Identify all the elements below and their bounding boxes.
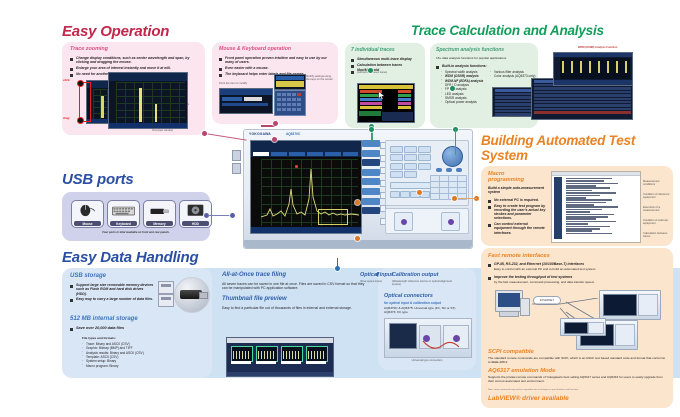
title-emulation: AQ6317 emulation Mode: [488, 368, 555, 374]
callout-dot-trace-zooming: [202, 131, 207, 136]
label-file-types-head: File types and formats:: [82, 336, 116, 340]
label-drag: drag: [63, 116, 70, 120]
screenshot-thumbnail-preview: [226, 337, 334, 377]
bullet-item: Calculation between traces: [351, 63, 421, 67]
callout-dot-display: [272, 137, 277, 142]
caption-point-item: Point the item to modify: [219, 82, 247, 85]
soft-key[interactable]: [362, 150, 380, 157]
heading-easy-operation: Easy Operation: [62, 24, 169, 40]
list-file-types: Trace: Binary and ASCII (CSV) Graphic: B…: [82, 342, 202, 368]
usb-memory-icon: [149, 204, 170, 218]
tile-label: Mouse: [72, 222, 103, 226]
title-optical-input: Optical input: [360, 273, 393, 279]
annotation-macro: Measurement conditions: [643, 180, 671, 186]
leader-line-macro: [455, 198, 477, 199]
panel-button[interactable]: [390, 171, 403, 178]
soft-key[interactable]: [362, 169, 380, 176]
panel-button[interactable]: [404, 163, 417, 170]
card-title-seven-traces: 7 individual traces: [351, 48, 395, 54]
thumbnail-item[interactable]: [306, 346, 328, 362]
mouse-icon: [79, 204, 96, 217]
overview-subwindow: [318, 209, 348, 225]
block-trace-filing: All-at-Once trace filing All seven trace…: [222, 272, 372, 310]
rotary-knob[interactable]: [442, 146, 463, 167]
list-analysis-left: Spectral width analysis WDM (OSNR) analy…: [441, 70, 489, 105]
usb-socket-upper: [158, 281, 174, 294]
body-scpi: The standard remote commands are compati…: [488, 357, 668, 364]
screenshot-macro-code: [551, 171, 641, 243]
bullets-macro: No external PC is required. Easy to crea…: [488, 198, 546, 236]
bullets-usb-storage: Support large size removable memory devi…: [70, 283, 154, 303]
callout-dot-orange-a: [355, 200, 360, 205]
annotation-macro: Execution of a measurement: [643, 206, 671, 212]
caption-optical-connectors: Universal type connection: [378, 359, 476, 362]
panel-button[interactable]: [404, 146, 417, 153]
instrument-model: AQ6370C: [286, 132, 300, 136]
optical-input-port[interactable]: [394, 212, 413, 231]
title-fast-remote: Fast remote interfaces: [488, 253, 550, 259]
bezel-key-column[interactable]: [380, 142, 384, 232]
panel-button[interactable]: [390, 191, 400, 198]
optical-spectrum-analyzer: YOKOGAWA AQ6370C: [243, 129, 473, 249]
title-trace-filing: All-at-Once trace filing: [222, 272, 372, 279]
soft-key[interactable]: [362, 159, 380, 166]
device-illustration-small: [560, 318, 606, 336]
nav-button[interactable]: [446, 168, 452, 172]
card-title-internal-storage: 512 MB internal storage: [70, 316, 138, 323]
callout-dot-green-a: [368, 68, 373, 73]
card-title-usb-storage: USB storage: [70, 273, 106, 280]
bullet-item: Front panel operation proven intuitive a…: [219, 56, 331, 65]
keyboard-icon: [112, 206, 135, 216]
panel-button[interactable]: [390, 154, 403, 161]
bullet-head-builtin: Built-in analysis functions:: [436, 64, 534, 70]
bullet-item: Can control external equipment through t…: [488, 222, 546, 235]
note-optical-input: (Free space input): [360, 280, 382, 283]
card-macro-programming: Macro programming Build a simple auto-me…: [481, 166, 673, 246]
bullet-item: Easy to create test program by recording…: [488, 204, 546, 221]
caption-wdm-analysis: WDM (OSNR) Analysis Function: [578, 46, 617, 49]
leader-line: [205, 133, 247, 141]
pc-illustration: [495, 290, 529, 318]
callout-dot-macro-src: [452, 196, 457, 201]
list-analysis-right: Various filter analysis Color analysis (…: [490, 70, 536, 79]
soft-key[interactable]: [362, 178, 380, 185]
screenshot-trace-list: [357, 83, 415, 123]
title-scpi: SCPI compatible: [488, 349, 534, 355]
bullet-item: GP-IB, RS-232, and Ethernet (10/100Base-…: [488, 262, 668, 266]
bullet-item: Change display conditions, such as cente…: [70, 56, 198, 65]
optical-port-panel: [385, 208, 469, 234]
panel-button[interactable]: [418, 146, 431, 153]
hard-disk-icon: [187, 204, 204, 218]
drag-handle-icon: [77, 117, 84, 124]
annotation-macro: Calculation between traces: [643, 232, 671, 238]
thumbnail-item[interactable]: [256, 346, 278, 362]
title-macro-programming: Macro programming: [488, 171, 538, 183]
screenshot-wdm-waveform: [553, 52, 633, 86]
card-mouse-keyboard: Mouse & Keyboard operation Front panel o…: [212, 42, 338, 124]
bullet-item: Built-in analysis functions:: [436, 64, 534, 68]
screenshot-parameter-panel: [219, 88, 273, 114]
list-item: Macro program: Binary: [82, 364, 202, 368]
soft-key-column[interactable]: [362, 140, 380, 232]
callout-dot-traces-2: [369, 127, 374, 132]
photo-flash-drive: [174, 277, 210, 313]
body-thumbnail-preview: Easy to find a particular file out of th…: [222, 306, 370, 310]
bullet-item: No external PC is required.: [488, 198, 546, 202]
body-remote-2: by the fast measurement, command process…: [494, 281, 670, 285]
soft-key[interactable]: [362, 198, 380, 205]
tile-label: HDD: [180, 222, 211, 226]
heading-building-automated: Building Automated Test System: [481, 133, 680, 163]
click-handle-icon: [77, 80, 84, 87]
list-item: Optical power analysis: [441, 100, 489, 104]
bullets-internal-storage: Save over 20,000 data files: [70, 326, 200, 332]
subtitle-optical-connectors: for optical input & calibration output: [384, 301, 441, 305]
label-click: click: [63, 78, 70, 82]
screenshot-value-readout: [274, 74, 306, 90]
instrument-display[interactable]: [250, 140, 362, 234]
cursor-icon: [378, 87, 385, 96]
lead-spectrum-analysis: 15+ data analysis functions for popular …: [436, 57, 506, 61]
bullet-item: Easy way to carry a large number of data…: [70, 297, 154, 301]
screenshot-result-table: [492, 87, 536, 117]
leader-line-usb: [208, 215, 232, 216]
tile-label: Memory: [144, 222, 175, 226]
thumbnail-item[interactable]: [281, 346, 303, 362]
callout-dot-mouse-keyboard: [273, 121, 278, 126]
lead-macro-programming: Build a simple auto-measurement system: [488, 186, 544, 195]
footnote-usb-ports: Four ports in total available on front a…: [62, 231, 210, 234]
connector-line: AQ6373: FC type: [384, 311, 408, 315]
device-illustration-top: [599, 290, 661, 320]
body-trace-filing: All seven traces can be saved in one fil…: [222, 282, 370, 291]
bullet-item: Enlarge your area of interest instantly …: [70, 66, 198, 70]
bullet-item: Support large size removable memory devi…: [70, 283, 154, 296]
card-spectrum-analysis: Spectrum analysis functions 15+ data ana…: [430, 43, 538, 128]
note-emulation: Note: some commands may not be compatibl…: [488, 389, 668, 391]
tile-mouse: Mouse: [71, 200, 104, 228]
thumbnail-item[interactable]: [231, 346, 253, 362]
card-seven-traces: 7 individual traces Simultaneous multi-t…: [345, 43, 425, 128]
title-optical-connectors: Optical connectors: [384, 294, 433, 300]
list-item: Color analysis (AQ6373 only): [490, 74, 536, 78]
leader-line: [455, 129, 456, 155]
leader-line: [337, 258, 338, 268]
heading-trace-calculation: Trace Calculation and Analysis: [411, 24, 604, 38]
panel-button-wide[interactable]: [390, 182, 431, 189]
title-calibration-output: Calibration output: [392, 273, 438, 279]
card-title-trace-zooming: Trace zooming: [70, 47, 108, 53]
note-calibration-output: (Wavelength reference source or optical …: [392, 280, 452, 286]
bullet-item: Even easier with a mouse.: [219, 66, 331, 70]
panel-button[interactable]: [404, 171, 417, 178]
usb-socket-lower: [158, 294, 174, 307]
callout-dot-green-b: [450, 86, 455, 91]
title-thumbnail-preview: Thumbnail file preview: [222, 296, 372, 303]
panel-button[interactable]: [418, 163, 431, 170]
bullet-item: Save over 20,000 data files: [70, 326, 200, 331]
screenshot-enlarged-waveform: [108, 72, 188, 129]
panel-button[interactable]: [404, 154, 417, 161]
panel-button[interactable]: [400, 191, 410, 198]
onscreen-keypad[interactable]: [274, 90, 306, 116]
panel-button[interactable]: [390, 146, 403, 153]
tile-keyboard: Keyboard: [107, 200, 140, 228]
heading-easy-data-handling: Easy Data Handling: [62, 250, 198, 266]
instrument-base: [244, 240, 472, 248]
card-title-mouse-keyboard: Mouse & Keyboard operation: [219, 47, 291, 53]
bullet-item: Improve the testing throughput of test s…: [488, 275, 668, 279]
heading-usb-ports: USB ports: [62, 172, 134, 188]
nav-button[interactable]: [436, 168, 442, 172]
callout-dot-usb-port: [230, 213, 235, 218]
annotation-macro: Condition of external equipment: [643, 219, 671, 225]
callout-dot-orange-c: [417, 190, 422, 195]
heading-text: Building Automated Test System: [481, 133, 635, 163]
instrument-brand: YOKOGAWA: [249, 132, 271, 136]
photo-optical-connectors: [384, 318, 472, 358]
calibration-output-port[interactable]: [441, 212, 460, 231]
caption-overview-window: Overview window: [152, 129, 192, 132]
card-usb-ports: Mouse Keyboard Memory HDD: [62, 192, 210, 241]
title-labview: LabVIEW® driver available: [488, 395, 569, 402]
brochure-page: Easy Operation Trace zooming Change disp…: [0, 0, 680, 417]
caption-modify-settings: Modify settings using the keys on the sc…: [306, 75, 334, 81]
callout-dot-orange-b: [355, 236, 360, 241]
peak-marker: [295, 165, 298, 168]
body-remote: Easy to control with an external PC and …: [494, 268, 670, 272]
panel-button[interactable]: [390, 163, 403, 170]
soft-key[interactable]: [362, 207, 380, 214]
tile-memory: Memory: [143, 200, 176, 228]
tile-label: Keyboard: [108, 222, 139, 226]
card-optical: Optical input (Free space input) Calibra…: [378, 268, 476, 370]
zoom-selection-box: [79, 82, 91, 122]
nav-button[interactable]: [456, 168, 462, 172]
card-storage: USB storage Support large size removable…: [62, 268, 212, 378]
usb-port-stack[interactable]: [232, 150, 239, 172]
panel-button[interactable]: [418, 154, 431, 161]
body-emulation: Supports the private remote commands of …: [488, 376, 668, 383]
card-title-spectrum-analysis: Spectrum analysis functions: [436, 48, 504, 54]
annotation-macro: Condition of reference equipment: [643, 193, 671, 199]
soft-key[interactable]: [362, 188, 380, 195]
caption-result-table: Result table: [508, 116, 521, 119]
bullet-item: Simultaneous multi-trace display: [351, 57, 421, 61]
